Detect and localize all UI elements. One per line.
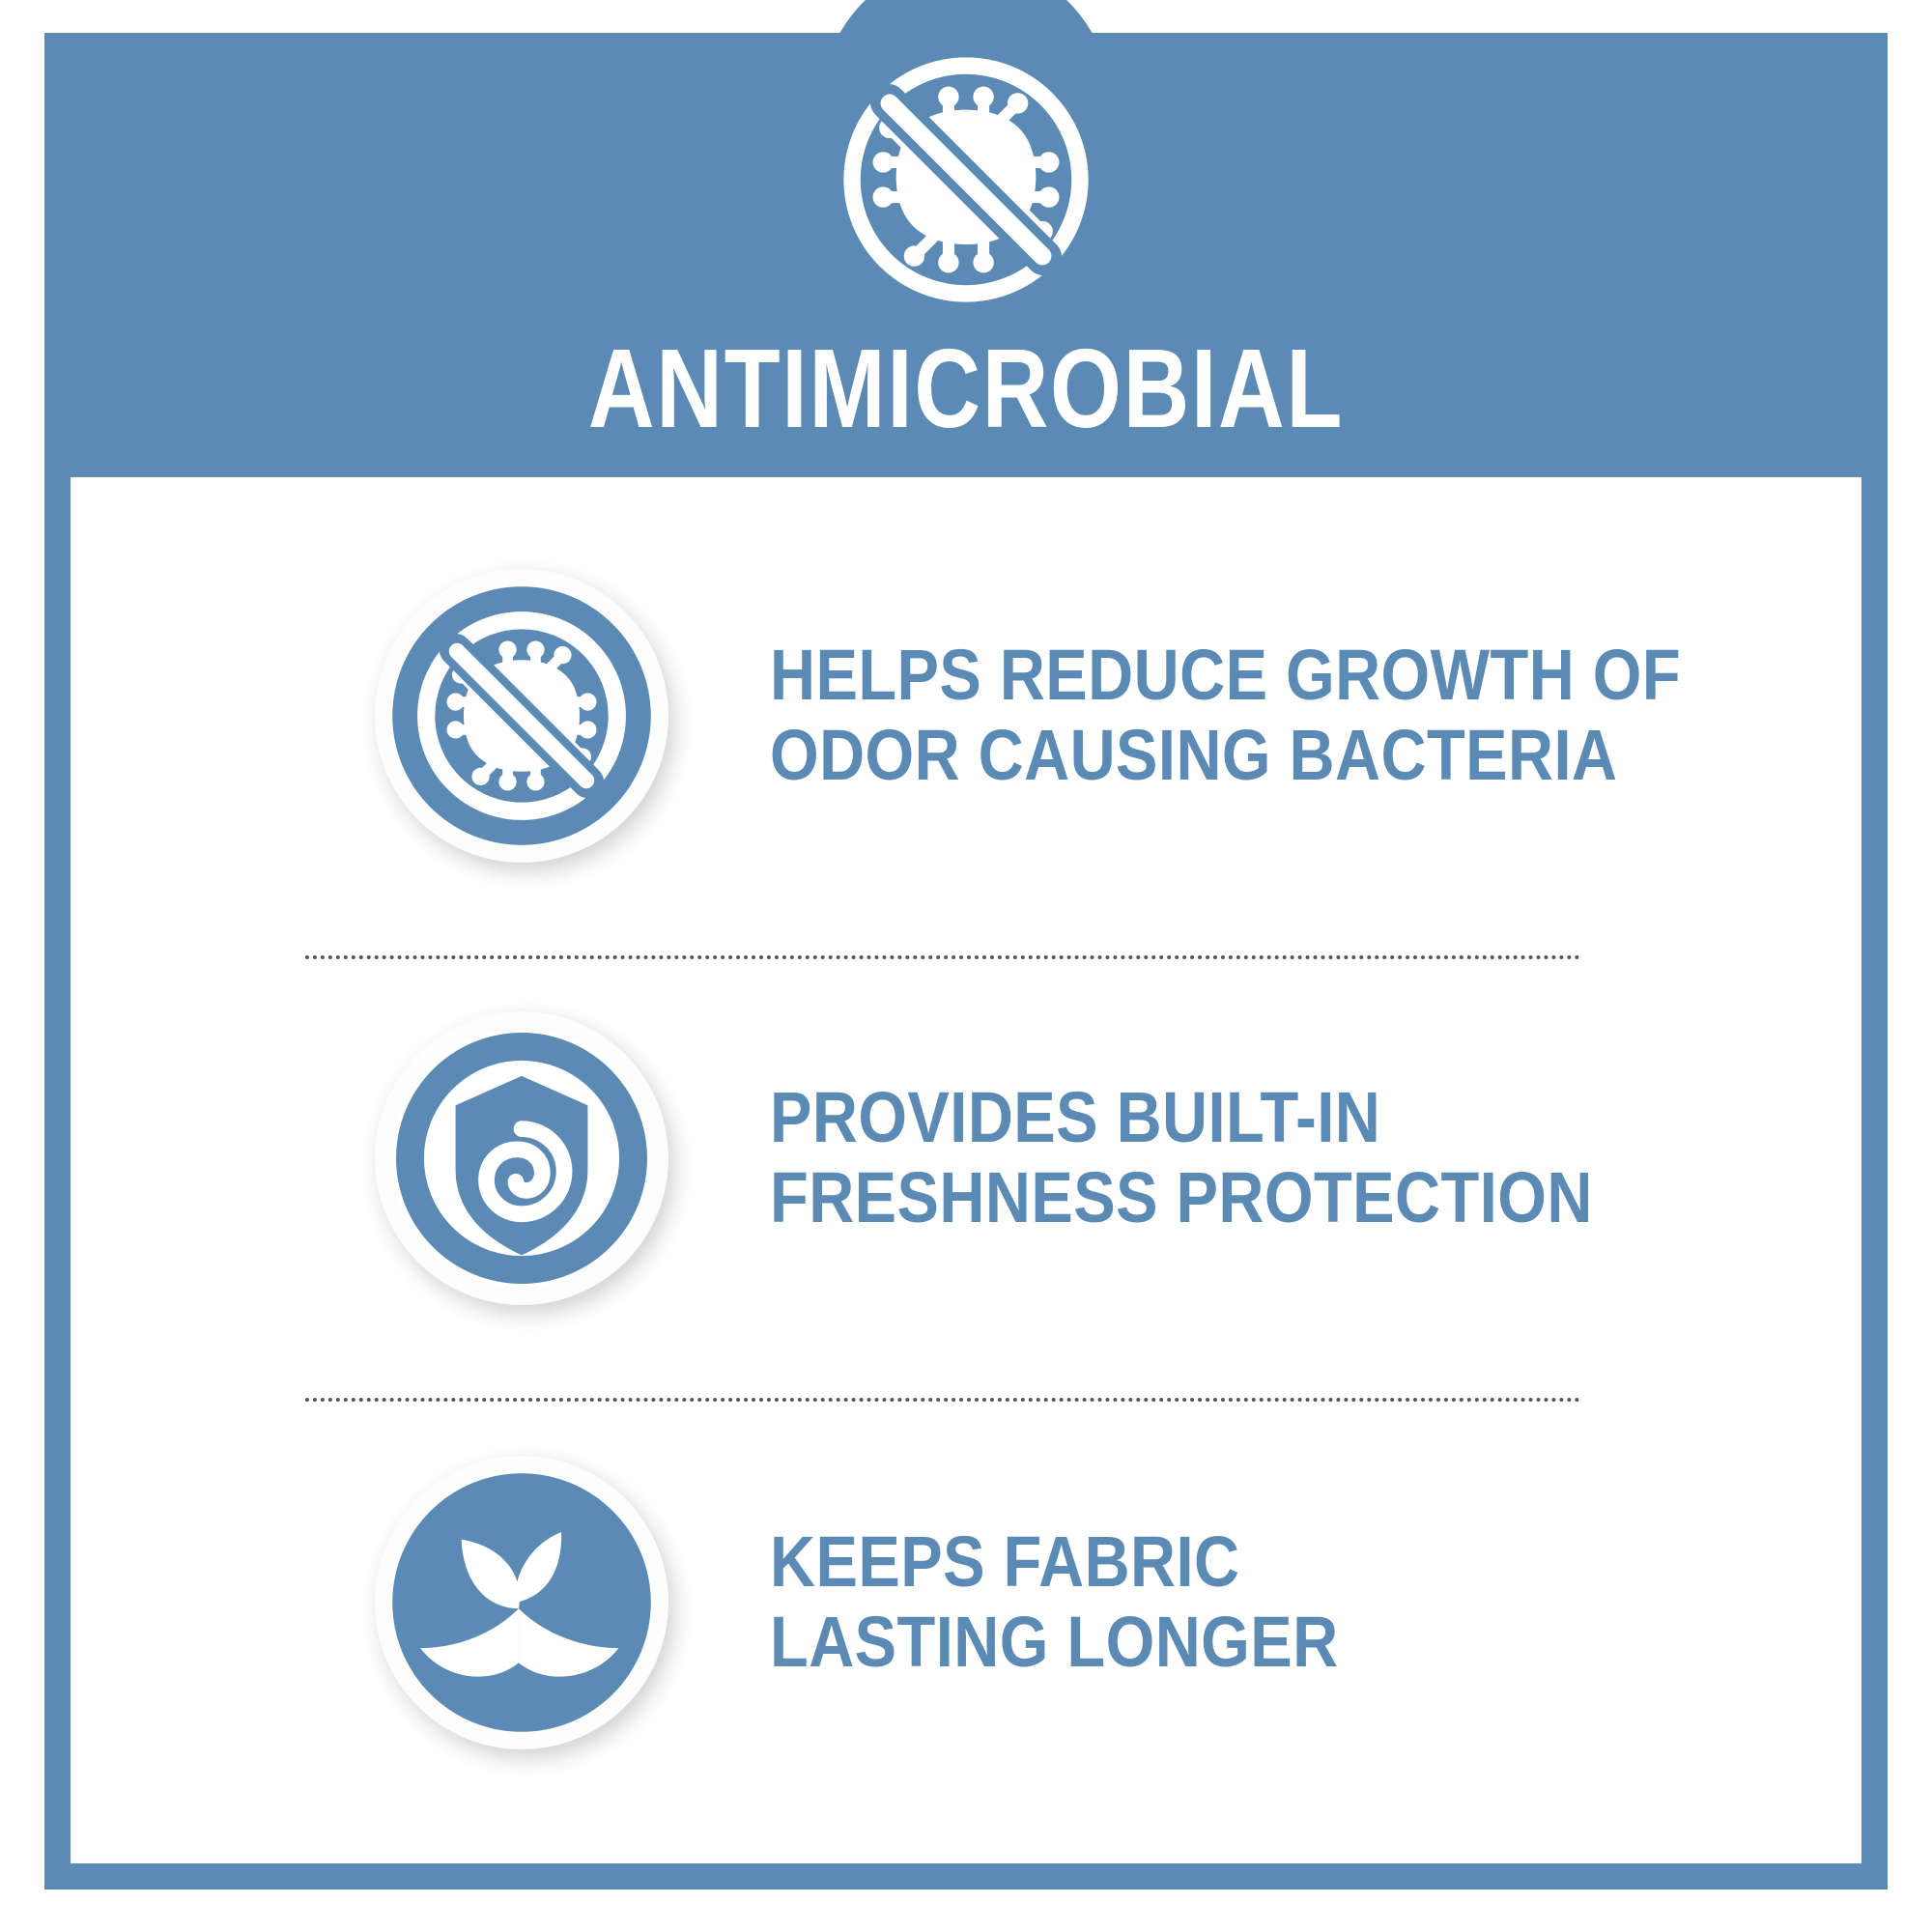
feature-divider bbox=[305, 955, 1580, 959]
feature-text: KEEPS FABRIC LASTING LONGER bbox=[770, 1522, 1339, 1683]
feature-line-1: PROVIDES BUILT-IN bbox=[770, 1078, 1593, 1158]
feature-line-1: KEEPS FABRIC bbox=[770, 1522, 1339, 1603]
feature-line-1: HELPS REDUCE GROWTH OF bbox=[770, 636, 1681, 716]
page-title: ANTIMICROBIAL bbox=[211, 332, 1722, 444]
badge-artwork bbox=[375, 1456, 668, 1749]
feature-line-2: ODOR CAUSING BACTERIA bbox=[770, 716, 1681, 796]
shield-swirl-badge-icon bbox=[375, 1011, 668, 1305]
feature-list: HELPS REDUCE GROWTH OF ODOR CAUSING BACT… bbox=[71, 477, 1861, 1863]
feature-text: PROVIDES BUILT-IN FRESHNESS PROTECTION bbox=[770, 1078, 1593, 1238]
feature-text: HELPS REDUCE GROWTH OF ODOR CAUSING BACT… bbox=[770, 636, 1681, 796]
feature-row: PROVIDES BUILT-IN FRESHNESS PROTECTION bbox=[71, 999, 1861, 1318]
feature-row: KEEPS FABRIC LASTING LONGER bbox=[71, 1443, 1861, 1762]
feature-line-2: LASTING LONGER bbox=[770, 1603, 1339, 1683]
infographic-canvas: ANTIMICROBIAL bbox=[0, 0, 1932, 1932]
leaves-badge-icon bbox=[375, 1456, 668, 1749]
header-band: ANTIMICROBIAL bbox=[44, 33, 1888, 477]
feature-divider bbox=[305, 1398, 1580, 1402]
badge-artwork bbox=[375, 569, 668, 863]
feature-row: HELPS REDUCE GROWTH OF ODOR CAUSING BACT… bbox=[71, 556, 1861, 875]
feature-line-2: FRESHNESS PROTECTION bbox=[770, 1158, 1593, 1238]
badge-artwork bbox=[375, 1011, 668, 1305]
no-germ-icon bbox=[837, 50, 1095, 309]
no-germ-badge-icon bbox=[375, 569, 668, 863]
